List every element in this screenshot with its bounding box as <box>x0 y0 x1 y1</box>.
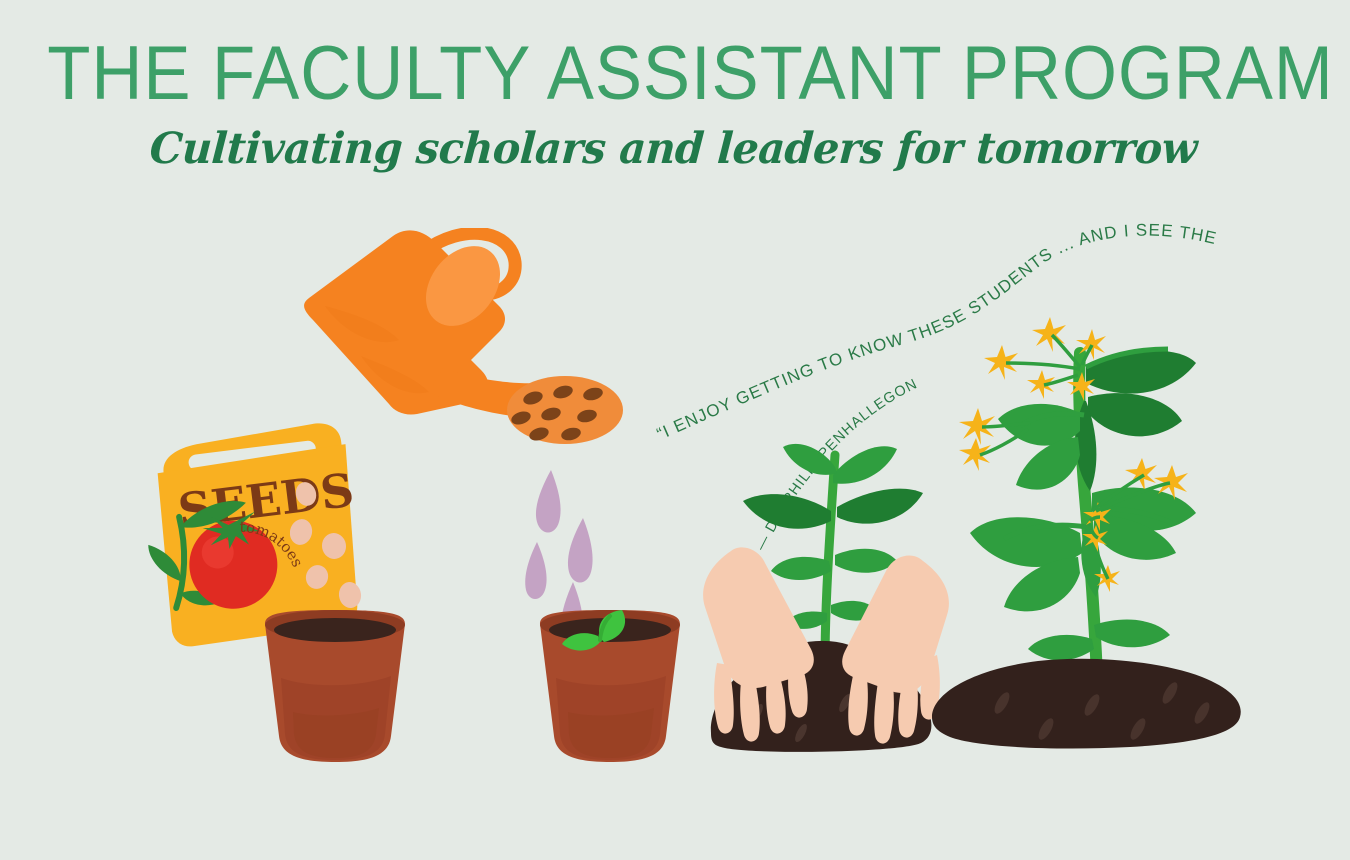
seed <box>290 517 315 548</box>
page-subtitle: Cultivating scholars and leaders for tom… <box>24 124 1323 174</box>
seed <box>337 581 362 608</box>
water-drop <box>568 518 593 583</box>
sprout-pot <box>530 608 690 768</box>
water-drop <box>536 470 561 533</box>
flower <box>1125 458 1157 491</box>
soil-mound <box>932 659 1241 749</box>
empty-pot <box>255 608 415 768</box>
water-drop <box>525 542 546 599</box>
page-title: THE FACULTY ASSISTANT PROGRAM <box>47 34 1303 114</box>
pot-soil <box>274 618 396 642</box>
watering-can <box>295 228 635 498</box>
seed <box>303 562 332 592</box>
poster-canvas: THE FACULTY ASSISTANT PROGRAM Cultivatin… <box>0 0 1350 860</box>
flowering-plant <box>920 305 1250 760</box>
seed <box>320 531 348 561</box>
